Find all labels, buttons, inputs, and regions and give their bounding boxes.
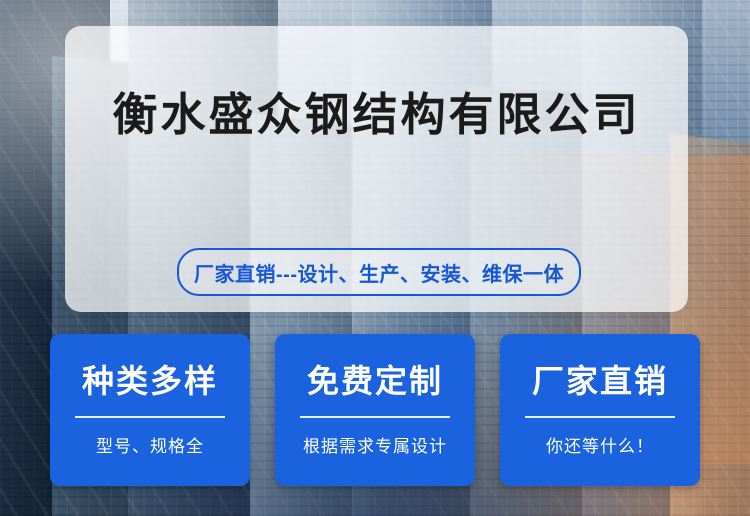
feature-card-title: 种类多样 [82, 356, 218, 402]
tagline-pill: 厂家直销---设计、生产、安装、维保一体 [177, 248, 581, 296]
page-title: 衡水盛众钢结构有限公司 [65, 78, 688, 143]
feature-card-divider [75, 416, 225, 418]
feature-card-divider [525, 416, 675, 418]
feature-card-1[interactable]: 种类多样 型号、规格全 [50, 334, 250, 486]
feature-card-list: 种类多样 型号、规格全 免费定制 根据需求专属设计 厂家直销 你还等什么！ [50, 334, 700, 486]
tagline-text: 厂家直销---设计、生产、安装、维保一体 [194, 258, 564, 287]
feature-card-subtitle: 型号、规格全 [96, 432, 204, 457]
feature-card-title: 免费定制 [307, 356, 443, 402]
promo-banner: 衡水盛众钢结构有限公司 厂家直销---设计、生产、安装、维保一体 种类多样 型号… [0, 0, 750, 516]
feature-card-title: 厂家直销 [532, 356, 668, 402]
feature-card-subtitle: 根据需求专属设计 [303, 432, 447, 457]
headline-panel: 衡水盛众钢结构有限公司 厂家直销---设计、生产、安装、维保一体 [65, 26, 688, 312]
feature-card-2[interactable]: 免费定制 根据需求专属设计 [275, 334, 475, 486]
feature-card-3[interactable]: 厂家直销 你还等什么！ [500, 334, 700, 486]
feature-card-divider [300, 416, 450, 418]
feature-card-subtitle: 你还等什么！ [546, 432, 654, 457]
